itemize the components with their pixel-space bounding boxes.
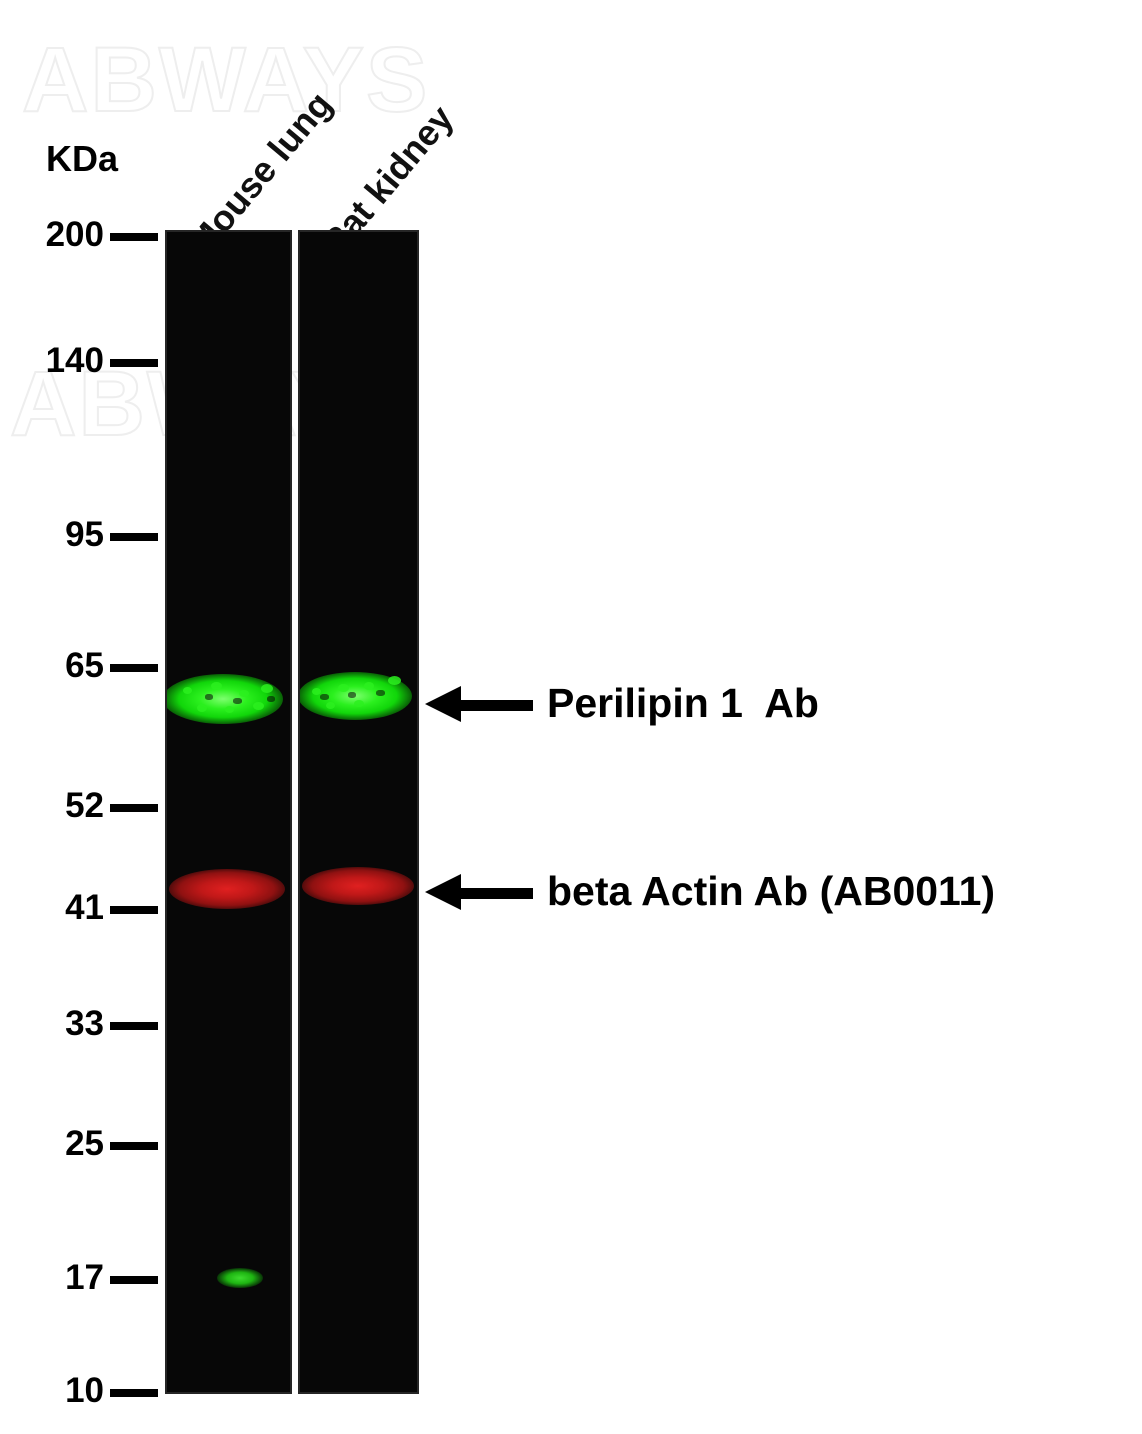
mw-tick-icon — [110, 906, 158, 914]
annotation-label: Perilipin 1 Ab — [547, 680, 819, 727]
mw-marker-label: 17 — [65, 1258, 104, 1298]
band-speckle — [261, 684, 273, 693]
band-speckle-gap — [233, 698, 242, 704]
mw-tick-icon — [110, 1276, 158, 1284]
band-beta-actin-lane1 — [169, 869, 285, 909]
left-arrow-icon — [425, 696, 533, 710]
background-band-low-mw — [217, 1268, 263, 1288]
band-speckle — [253, 702, 264, 710]
mw-marker-label: 140 — [46, 341, 104, 381]
band-speckle — [211, 682, 222, 690]
mw-marker-label: 25 — [65, 1124, 104, 1164]
band-speckle — [364, 682, 374, 690]
mw-tick-icon — [110, 359, 158, 367]
western-blot-figure: ABWAYS ABWAYS KDa 200 140 95 65 52 41 33… — [0, 0, 1142, 1434]
left-arrow-icon — [425, 884, 533, 898]
annotation-label: beta Actin Ab (AB0011) — [547, 868, 995, 915]
band-speckle — [225, 706, 234, 713]
mw-tick-icon — [110, 233, 158, 241]
band-speckle — [354, 700, 364, 707]
band-speckle — [388, 676, 401, 685]
mw-marker-label: 33 — [65, 1004, 104, 1044]
band-speckle — [197, 704, 207, 712]
annotation-perilipin1: Perilipin 1 Ab — [425, 683, 819, 723]
mw-marker-label: 52 — [65, 786, 104, 826]
band-speckle-gap — [376, 690, 385, 696]
lane-rat-kidney — [298, 230, 419, 1394]
band-speckle — [338, 684, 349, 692]
blot-membrane — [165, 230, 419, 1394]
band-speckle — [312, 688, 321, 695]
mw-tick-icon — [110, 1142, 158, 1150]
kda-unit-label: KDa — [46, 138, 118, 180]
band-perilipin1-lane1 — [165, 674, 283, 724]
band-speckle-gap — [348, 692, 356, 698]
band-speckle — [326, 702, 335, 709]
band-speckle-gap — [267, 696, 275, 702]
band-speckle-gap — [205, 694, 213, 700]
band-beta-actin-lane2 — [302, 867, 414, 905]
mw-tick-icon — [110, 804, 158, 812]
mw-marker-label: 200 — [46, 215, 104, 255]
mw-tick-icon — [110, 1389, 158, 1397]
band-speckle — [183, 687, 192, 694]
mw-marker-label: 41 — [65, 888, 104, 928]
annotation-beta-actin: beta Actin Ab (AB0011) — [425, 871, 995, 911]
mw-tick-icon — [110, 664, 158, 672]
watermark-logo-top: ABWAYS — [22, 28, 429, 133]
lane-mouse-lung — [165, 230, 292, 1394]
band-speckle — [239, 690, 249, 697]
mw-marker-label: 95 — [65, 515, 104, 555]
mw-marker-label: 65 — [65, 646, 104, 686]
band-speckle-gap — [320, 694, 329, 700]
mw-tick-icon — [110, 533, 158, 541]
mw-tick-icon — [110, 1022, 158, 1030]
mw-marker-label: 10 — [65, 1371, 104, 1411]
